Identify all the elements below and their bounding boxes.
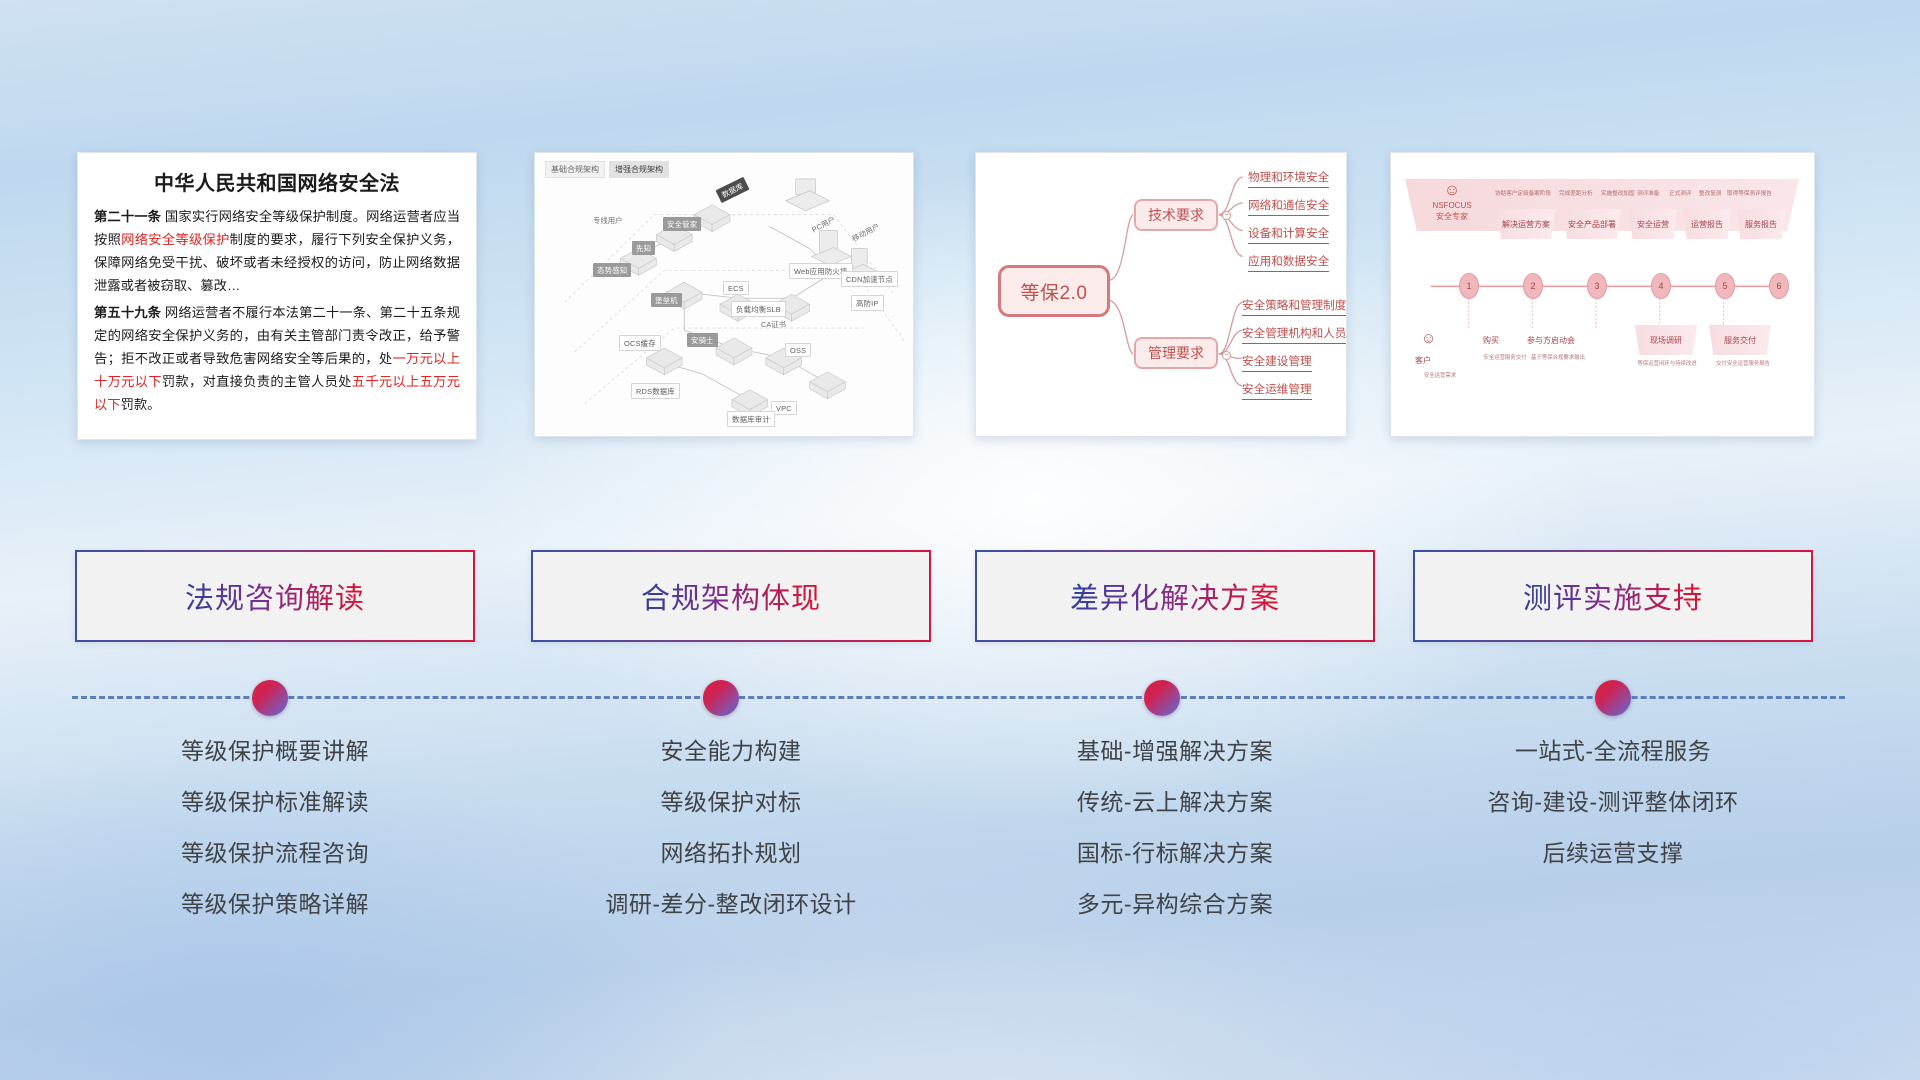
section-heading-differentiated-solution[interactable]: 差异化解决方案 [975, 550, 1375, 642]
arch-node-anqishi: 安骑士 [687, 333, 718, 347]
timeline-marker-1[interactable] [252, 680, 288, 716]
arch-node-anti-ddos-ip: 高防IP [851, 295, 884, 311]
timeline-number-3: 3 [1587, 273, 1607, 299]
progress-timeline [0, 680, 1920, 740]
timeline-number-1: 1 [1459, 273, 1479, 299]
law-article-21: 第二十一条 国家实行网络安全等级保护制度。网络运营者应当按照网络安全等级保护制度… [94, 206, 460, 297]
card-mindmap-dengbao: 等保2.0 技术要求 − 物理和环境安全 网络和通信安全 设备和计算安全 应用和… [975, 152, 1347, 437]
list-item: 等级保护策略详解 [75, 893, 475, 916]
arch-node-db-audit: 数据库审计 [727, 411, 775, 427]
mindmap-leaf-app-data: 应用和数据安全 [1248, 253, 1329, 272]
article-59-text-b: 罚款，对直接负责的主管人员处 [162, 374, 352, 389]
arch-node-rds-database: RDS数据库 [631, 383, 680, 399]
section-heading-label-3: 测评实施支持 [1523, 575, 1703, 617]
timeline-number-2: 2 [1523, 273, 1543, 299]
timeline-marker-4[interactable] [1595, 680, 1631, 716]
service-timeline: ☺ NSFOCUS 安全专家 协助客户定级备案阶段 完成差距分析 实施整改加固 … [1391, 153, 1814, 436]
bottom-label-customer: 客户 [1415, 355, 1431, 366]
expand-icon-management[interactable]: − [1222, 351, 1231, 360]
arch-node-ca-cert: CA证书 [761, 319, 786, 330]
section-detail-row: 等级保护概要讲解 等级保护标准解读 等级保护流程咨询 等级保护策略详解 安全能力… [0, 740, 1920, 960]
mindmap-leaf-ops-mgmt: 安全运维管理 [1242, 381, 1312, 400]
arch-node-bastion-host: 堡垒机 [651, 293, 682, 307]
detail-list-differentiated-solution: 基础-增强解决方案 传统-云上解决方案 国标-行标解决方案 多元-异构综合方案 [975, 740, 1375, 944]
mindmap-root: 等保2.0 [998, 265, 1110, 317]
section-heading-label-1: 合规架构体现 [641, 575, 821, 617]
detail-list-regulation-consulting: 等级保护概要讲解 等级保护标准解读 等级保护流程咨询 等级保护策略详解 [75, 740, 475, 944]
section-heading-label-0: 法规咨询解读 [185, 575, 365, 617]
architecture-diagram: 基础合规架构 增强合规架构 [535, 153, 913, 436]
timeline-marker-2[interactable] [703, 680, 739, 716]
bottom-label-purchase: 购买 [1483, 335, 1499, 346]
law-body: 第二十一条 国家实行网络安全等级保护制度。网络运营者应当按照网络安全等级保护制度… [78, 206, 476, 417]
section-heading-label-2: 差异化解决方案 [1070, 575, 1280, 617]
timeline-dashed-line [72, 696, 1845, 699]
article-59-label: 第五十九条 [94, 305, 161, 320]
mindmap-leaf-device-compute: 设备和计算安全 [1248, 225, 1329, 244]
mindmap-leaf-physical-env: 物理和环境安全 [1248, 169, 1329, 188]
mindmap-branch-technical: 技术要求 [1134, 199, 1218, 231]
bottom-label-kickoff: 参与方启动会 [1527, 335, 1575, 346]
mindmap-leaf-construction-mgmt: 安全建设管理 [1242, 353, 1312, 372]
list-item: 国标-行标解决方案 [975, 842, 1375, 865]
mindmap-branch-management: 管理要求 [1134, 337, 1218, 369]
bottom-tag-service-delivery: 服务交付 [1709, 325, 1771, 355]
article-21-highlight: 网络安全等级保护 [121, 232, 230, 247]
arch-node-xianzhi: 先知 [632, 241, 655, 255]
arch-node-security-butler: 安全管家 [663, 217, 701, 231]
mindmap: 等保2.0 技术要求 − 物理和环境安全 网络和通信安全 设备和计算安全 应用和… [976, 153, 1346, 436]
list-item: 等级保护概要讲解 [75, 740, 475, 763]
law-title: 中华人民共和国网络安全法 [78, 167, 476, 196]
bottom-tag-onsite-research: 现场调研 [1635, 325, 1697, 355]
timeline-number-5: 5 [1715, 273, 1735, 299]
slide-canvas: 中华人民共和国网络安全法 第二十一条 国家实行网络安全等级保护制度。网络运营者应… [0, 0, 1920, 1080]
mindmap-leaf-policy-system: 安全策略和管理制度 [1242, 297, 1346, 316]
arch-node-situation-awareness: 态势感知 [593, 263, 631, 277]
bottom-sub-0: 安全运营需求 [1409, 371, 1471, 379]
bottom-sub-3: 等保运营闭环与持续改进 [1631, 359, 1703, 367]
customer-person-icon: ☺ [1421, 331, 1436, 346]
article-21-label: 第二十一条 [94, 209, 161, 224]
list-item: 安全能力构建 [531, 740, 931, 763]
list-item: 调研-差分-整改闭环设计 [531, 893, 931, 916]
list-item: 等级保护对标 [531, 791, 931, 814]
list-item: 一站式-全流程服务 [1413, 740, 1813, 763]
arch-node-dedicated-line-user: 专线用户 [593, 215, 623, 226]
mindmap-leaf-org-personnel: 安全管理机构和人员 [1242, 325, 1346, 344]
list-item: 后续运营支撑 [1413, 842, 1813, 865]
card-cybersecurity-law: 中华人民共和国网络安全法 第二十一条 国家实行网络安全等级保护制度。网络运营者应… [77, 152, 477, 440]
article-59-text-c: 罚款。 [121, 397, 161, 412]
card-service-timeline: ☺ NSFOCUS 安全专家 协助客户定级备案阶段 完成差距分析 实施整改加固 … [1390, 152, 1815, 437]
arch-node-oss: OSS [785, 343, 811, 357]
timeline-number-6: 6 [1769, 273, 1789, 299]
section-heading-compliance-architecture[interactable]: 合规架构体现 [531, 550, 931, 642]
list-item: 基础-增强解决方案 [975, 740, 1375, 763]
card-compliance-architecture: 基础合规架构 增强合规架构 [534, 152, 914, 437]
arch-node-ecs: ECS [723, 281, 749, 295]
mindmap-leaf-network-comm: 网络和通信安全 [1248, 197, 1329, 216]
section-heading-regulation-consulting[interactable]: 法规咨询解读 [75, 550, 475, 642]
timeline-marker-3[interactable] [1144, 680, 1180, 716]
image-card-row: 中华人民共和国网络安全法 第二十一条 国家实行网络安全等级保护制度。网络运营者应… [0, 152, 1920, 442]
expand-icon-technical[interactable]: − [1222, 211, 1231, 220]
detail-list-compliance-architecture: 安全能力构建 等级保护对标 网络拓扑规划 调研-差分-整改闭环设计 [531, 740, 931, 944]
section-heading-row: 法规咨询解读 合规架构体现 差异化解决方案 测评实施支持 [0, 550, 1920, 646]
arch-node-ocs-cache: OCS缓存 [619, 335, 661, 351]
arch-node-slb: 负载均衡SLB [731, 301, 786, 317]
law-article-59: 第五十九条 网络运营者不履行本法第二十一条、第二十五条规定的网络安全保护义务的，… [94, 302, 460, 416]
list-item: 多元-异构综合方案 [975, 893, 1375, 916]
bottom-sub-2: 基于等保合规要求输出 [1523, 353, 1593, 361]
list-item: 等级保护标准解读 [75, 791, 475, 814]
section-heading-assessment-support[interactable]: 测评实施支持 [1413, 550, 1813, 642]
list-item: 传统-云上解决方案 [975, 791, 1375, 814]
arch-node-cdn: CDN加速节点 [841, 271, 898, 287]
list-item: 咨询-建设-测评整体闭环 [1413, 791, 1813, 814]
list-item: 等级保护流程咨询 [75, 842, 475, 865]
list-item: 网络拓扑规划 [531, 842, 931, 865]
detail-list-assessment-support: 一站式-全流程服务 咨询-建设-测评整体闭环 后续运营支撑 [1413, 740, 1813, 893]
bottom-sub-4: 交付安全运营服务报告 [1707, 359, 1779, 367]
timeline-number-4: 4 [1651, 273, 1671, 299]
